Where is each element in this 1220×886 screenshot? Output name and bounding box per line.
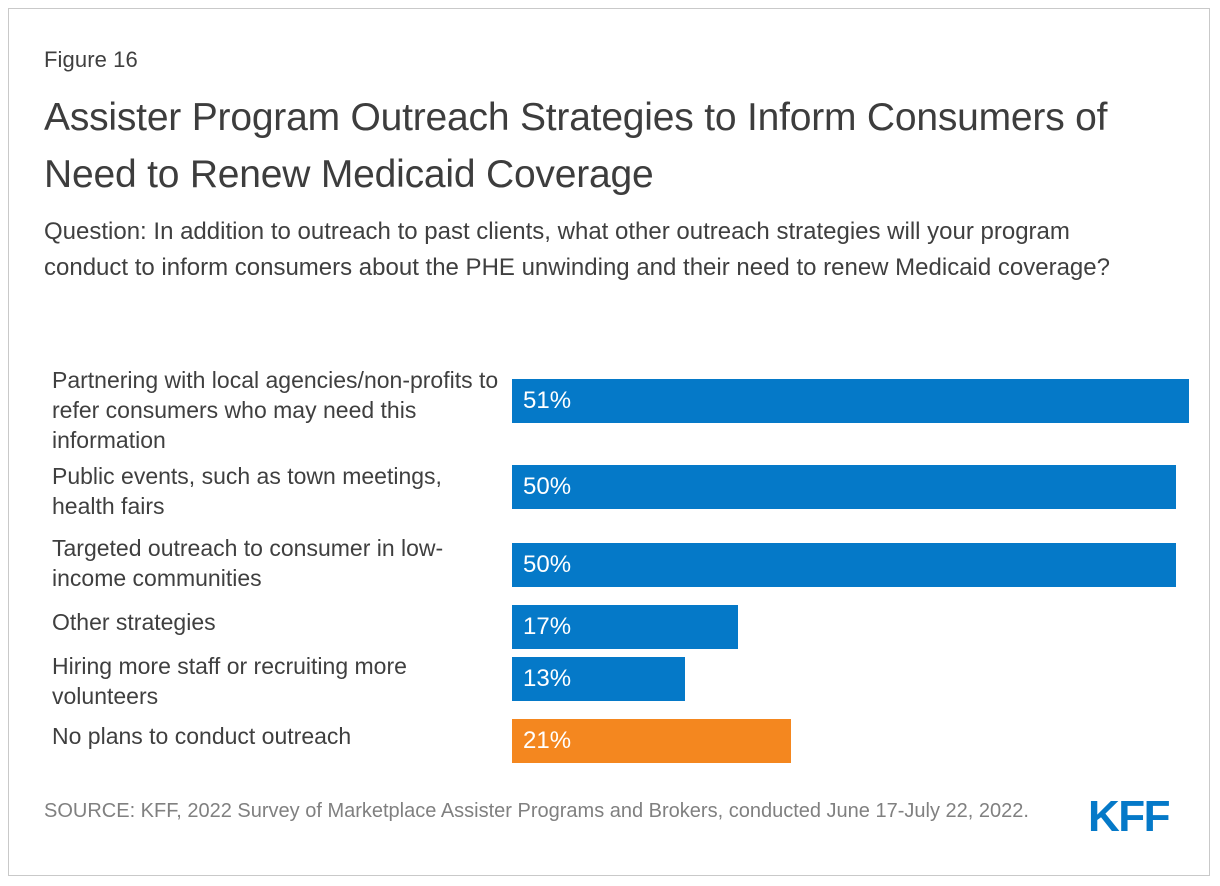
bar-track: 17% xyxy=(512,605,1189,649)
bar-track: 50% xyxy=(512,533,1189,603)
bar[interactable]: 21% xyxy=(512,719,791,763)
bar-track: 21% xyxy=(512,719,1189,763)
bar-row: Targeted outreach to consumer in low-inc… xyxy=(44,533,1189,603)
figure-card: Figure 16 Assister Program Outreach Stra… xyxy=(8,8,1210,876)
bar-track: 50% xyxy=(512,455,1189,525)
bar-value-label: 50% xyxy=(512,475,571,499)
bar[interactable]: 50% xyxy=(512,543,1176,587)
figure-content: Figure 16 Assister Program Outreach Stra… xyxy=(44,9,1189,875)
bar[interactable]: 51% xyxy=(512,379,1189,423)
bar-row: Partnering with local agencies/non-profi… xyxy=(44,365,1189,443)
bar-category-label: Targeted outreach to consumer in low-inc… xyxy=(52,533,502,593)
bar-category-label: Other strategies xyxy=(52,607,502,637)
bar-category-label: Public events, such as town meetings, he… xyxy=(52,461,502,521)
bar[interactable]: 50% xyxy=(512,465,1176,509)
question-text: Question: In addition to outreach to pas… xyxy=(44,214,1159,286)
bar[interactable]: 17% xyxy=(512,605,738,649)
figure-number: Figure 16 xyxy=(44,47,138,73)
bar[interactable]: 13% xyxy=(512,657,685,701)
bar-category-label: Partnering with local agencies/non-profi… xyxy=(52,365,502,455)
source-note: SOURCE: KFF, 2022 Survey of Marketplace … xyxy=(44,795,1044,827)
bar-value-label: 21% xyxy=(512,729,571,753)
bar-chart: Partnering with local agencies/non-profi… xyxy=(44,357,1189,767)
bar-row: Hiring more staff or recruiting more vol… xyxy=(44,653,1189,713)
bar-row: Other strategies17% xyxy=(44,605,1189,649)
kff-logo: KFF xyxy=(1088,795,1169,839)
bar-value-label: 51% xyxy=(512,389,571,413)
bar-track: 51% xyxy=(512,365,1189,443)
bar-row: No plans to conduct outreach21% xyxy=(44,719,1189,763)
bar-category-label: Hiring more staff or recruiting more vol… xyxy=(52,651,502,711)
bar-value-label: 17% xyxy=(512,615,571,639)
bar-value-label: 13% xyxy=(512,667,571,691)
bar-row: Public events, such as town meetings, he… xyxy=(44,455,1189,525)
bar-track: 13% xyxy=(512,653,1189,713)
page-title: Assister Program Outreach Strategies to … xyxy=(44,89,1154,203)
bar-category-label: No plans to conduct outreach xyxy=(52,721,502,751)
bar-value-label: 50% xyxy=(512,553,571,577)
